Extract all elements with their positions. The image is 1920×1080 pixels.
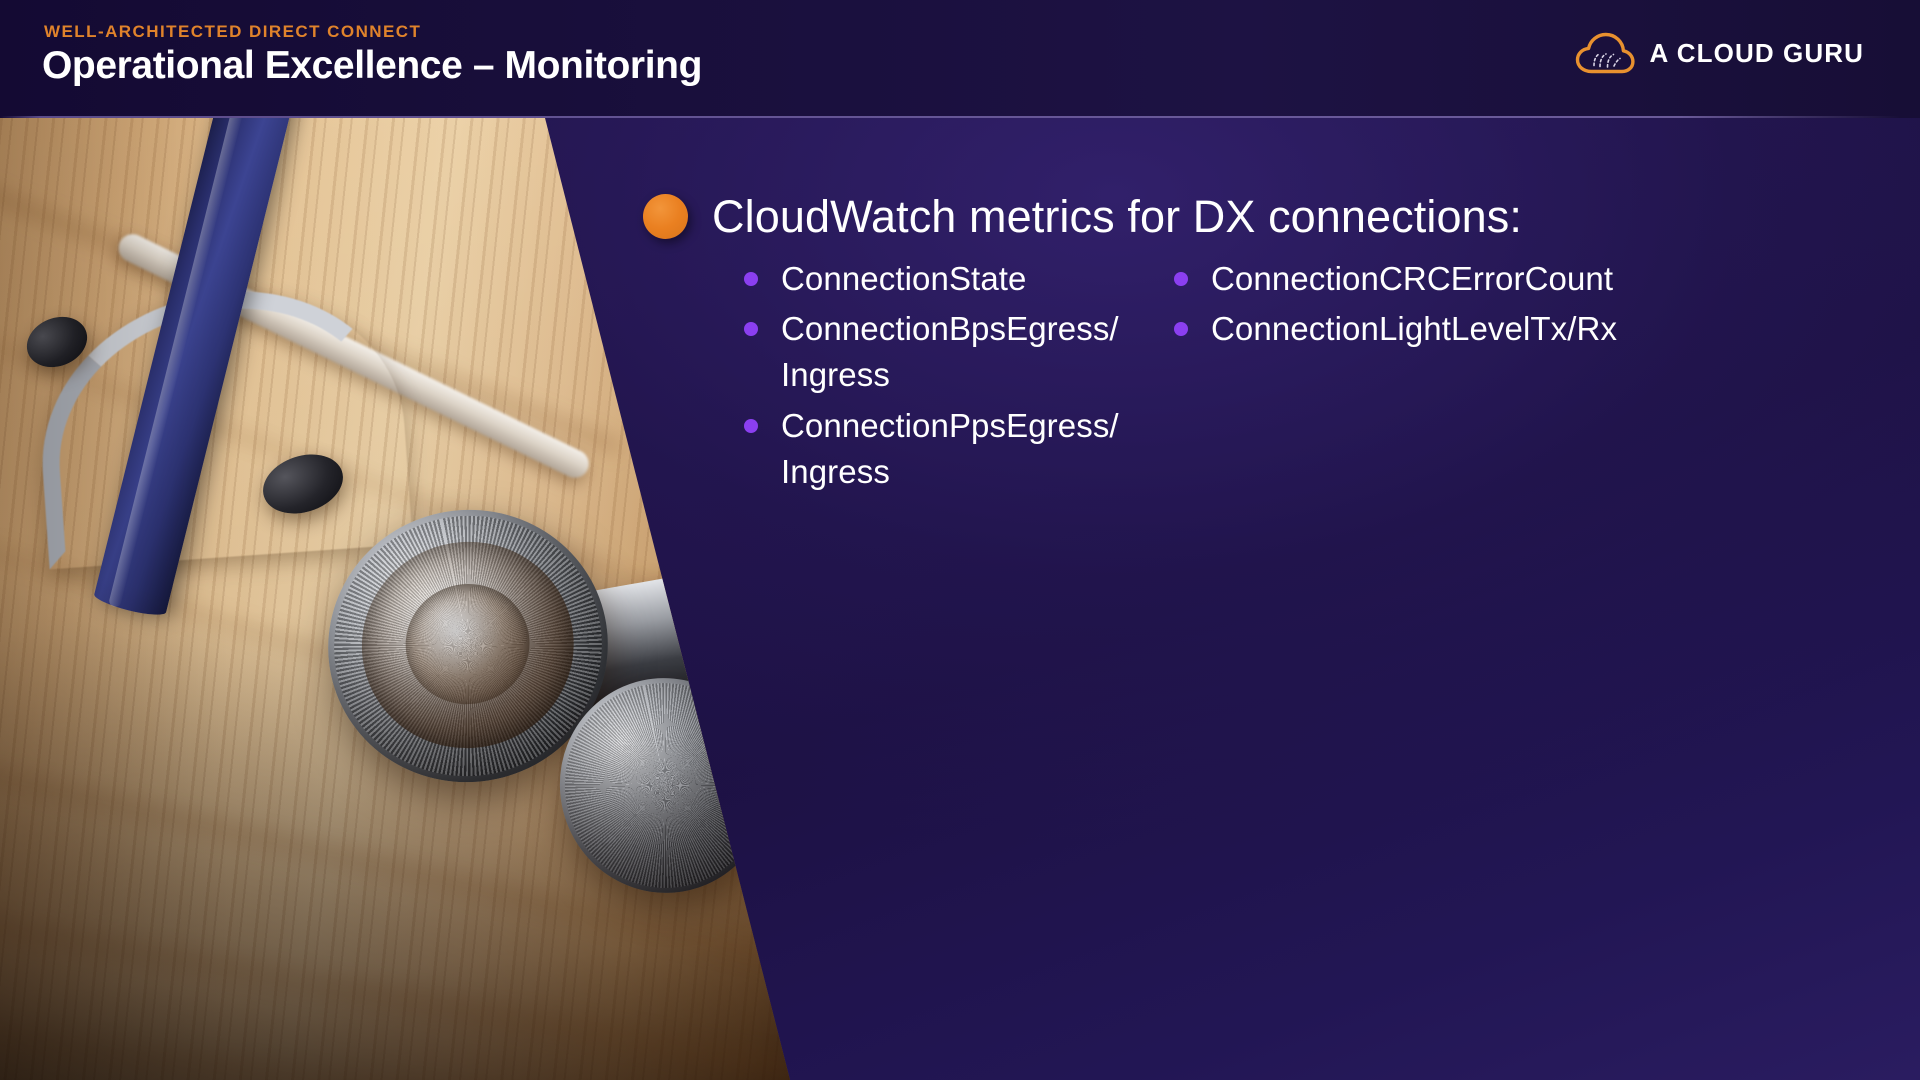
- slide-content: CloudWatch metrics for DX connections: C…: [0, 118, 1920, 1080]
- page-title: Operational Excellence – Monitoring: [42, 44, 702, 88]
- list-item: ConnectionLightLevelTx/Rx: [1174, 306, 1734, 352]
- bullet-column-right: ConnectionCRCErrorCount ConnectionLightL…: [1174, 256, 1734, 499]
- bullet-label: ConnectionPpsEgress/ Ingress: [781, 403, 1174, 495]
- cloud-outline-icon: [1574, 32, 1636, 74]
- bullet-columns: ConnectionState ConnectionBpsEgress/ Ing…: [744, 256, 1884, 499]
- brand-name: A CLOUD GURU: [1650, 38, 1864, 69]
- purple-dot-icon: [1174, 322, 1188, 336]
- bullet-label: ConnectionLightLevelTx/Rx: [1211, 306, 1617, 352]
- purple-dot-icon: [744, 419, 758, 433]
- list-item: ConnectionCRCErrorCount: [1174, 256, 1734, 302]
- header-kicker: WELL-ARCHITECTED DIRECT CONNECT: [44, 22, 421, 42]
- purple-dot-icon: [744, 322, 758, 336]
- bullet-label: ConnectionCRCErrorCount: [1211, 256, 1613, 302]
- slide-header: WELL-ARCHITECTED DIRECT CONNECT Operatio…: [0, 0, 1920, 118]
- list-item: ConnectionState: [744, 256, 1174, 302]
- headline-text: CloudWatch metrics for DX connections:: [712, 194, 1522, 239]
- list-item: ConnectionBpsEgress/ Ingress: [744, 306, 1174, 398]
- bullet-column-left: ConnectionState ConnectionBpsEgress/ Ing…: [744, 256, 1174, 499]
- purple-dot-icon: [1174, 272, 1188, 286]
- header-divider: [0, 116, 1920, 118]
- list-item: ConnectionPpsEgress/ Ingress: [744, 403, 1174, 495]
- bullet-label: ConnectionBpsEgress/ Ingress: [781, 306, 1174, 398]
- purple-dot-icon: [744, 272, 758, 286]
- orange-dot-icon: [643, 194, 688, 239]
- slide: CloudWatch metrics for DX connections: C…: [0, 0, 1920, 1080]
- brand-logo: A CLOUD GURU: [1574, 28, 1864, 78]
- bullet-label: ConnectionState: [781, 256, 1027, 302]
- headline-row: CloudWatch metrics for DX connections:: [664, 194, 1522, 239]
